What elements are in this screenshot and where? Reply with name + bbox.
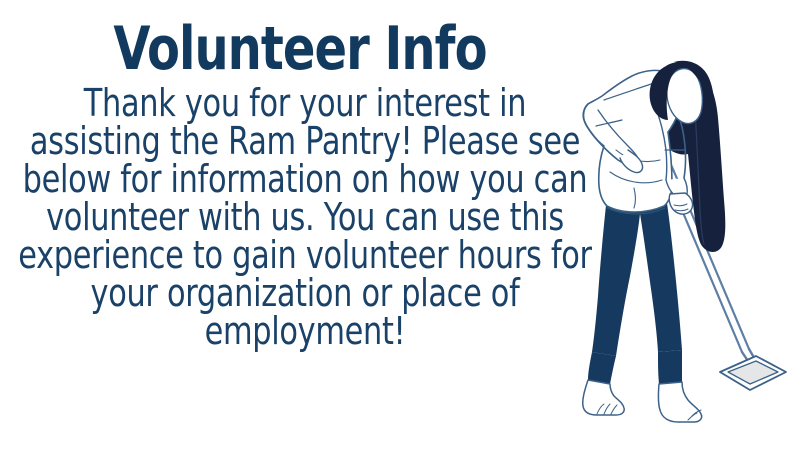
right-foot [658,382,701,422]
page-title: Volunteer Info [71,18,529,80]
mop-head-icon [720,356,786,390]
illustration-svg [570,0,800,450]
hand-gripping-mop [669,193,692,214]
left-foot [583,380,624,415]
poster-canvas: Volunteer Info Thank you for your intere… [0,0,800,450]
text-block: Volunteer Info Thank you for your intere… [0,0,600,450]
body-copy: Thank you for your interest in assisting… [12,84,598,350]
person-mopping-floor-illustration [570,0,800,450]
pants [588,196,682,384]
